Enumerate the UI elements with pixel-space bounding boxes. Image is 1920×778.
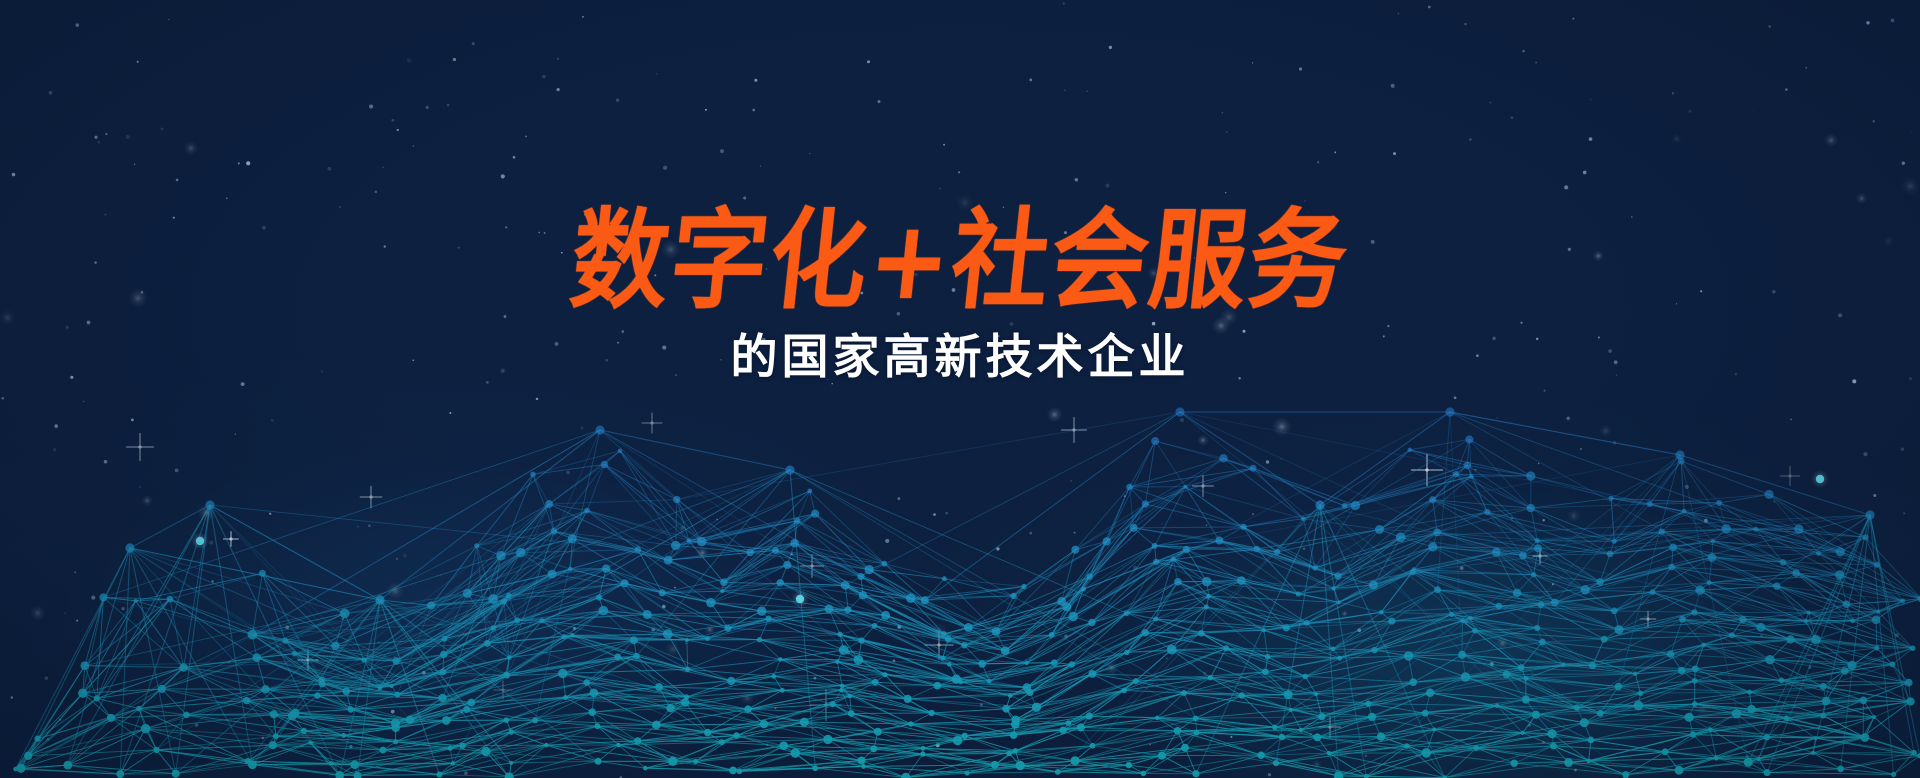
banner-content: 数字化+社会服务 的国家高新技术企业 [0,0,1920,778]
page-title: 数字化+社会服务 [566,206,1354,315]
banner-root: 数字化+社会服务 的国家高新技术企业 [0,0,1920,778]
page-subtitle: 的国家高新技术企业 [731,334,1190,381]
